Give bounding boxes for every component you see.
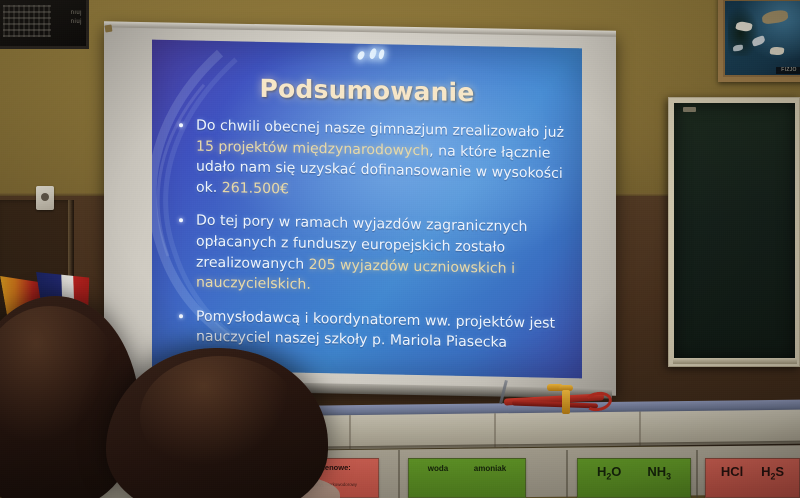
clamp-post bbox=[562, 390, 570, 414]
slide-text-highlight: 261.500€ bbox=[222, 180, 289, 197]
chalkboard-surface bbox=[674, 103, 795, 359]
chemistry-card-names-green: woda amoniak bbox=[408, 458, 526, 498]
bench-panel-seam bbox=[494, 413, 496, 447]
notice-board-text: niujniuj bbox=[71, 9, 82, 27]
fish-icon bbox=[762, 10, 789, 26]
projected-slide: Podsumowanie Do chwili obecnej nasze gim… bbox=[152, 40, 582, 379]
card-word: amoniak bbox=[474, 463, 506, 475]
chalkboard-clip bbox=[683, 107, 696, 112]
poster-credit: FIZJO bbox=[776, 67, 800, 74]
panel-divider bbox=[566, 450, 568, 498]
red-retort-clamp-stand bbox=[496, 386, 614, 414]
slide-light-swoosh-icon bbox=[358, 47, 392, 63]
card-row: H2O NH3 bbox=[584, 463, 684, 486]
chemistry-card-formulas-green: H2O NH3 bbox=[577, 458, 691, 498]
slide-bullet-1: Do chwili obecnej nasze gimnazjum zreali… bbox=[172, 115, 566, 205]
panel-divider bbox=[696, 450, 698, 498]
slide-title: Podsumowanie bbox=[152, 72, 582, 110]
screen-mount-bracket bbox=[105, 25, 113, 33]
slide-text-run: Pomysłodawcą i koordynatorem ww. projekt… bbox=[196, 308, 555, 351]
card-formula-h2s: H2S bbox=[761, 463, 784, 486]
bench-panel-seam bbox=[639, 412, 641, 446]
card-formula-nh3: NH3 bbox=[647, 463, 671, 486]
notice-board-grid bbox=[3, 5, 51, 37]
wall-power-outlet bbox=[36, 186, 54, 210]
panel-divider bbox=[398, 450, 400, 498]
card-word: woda bbox=[428, 463, 448, 475]
chalkboard-chalk-tray bbox=[673, 358, 797, 364]
slide-bullet-list: Do chwili obecnej nasze gimnazjum zreali… bbox=[172, 115, 566, 368]
slide-text-run: Do chwili obecnej nasze gimnazjum zreali… bbox=[196, 118, 564, 141]
classroom-photo-scene: niujniuj FIZJO bbox=[0, 0, 800, 498]
chemistry-card-formulas-red: HCl H2S bbox=[705, 458, 800, 498]
bench-panel-seam bbox=[349, 415, 351, 449]
underwater-reef-poster: FIZJO bbox=[718, 0, 800, 82]
card-formula-h2o: H2O bbox=[597, 463, 621, 486]
card-row: HCl H2S bbox=[712, 463, 793, 486]
dark-notice-board: niujniuj bbox=[0, 0, 89, 49]
slide-bullet-2: Do tej pory w ramach wyjazdów zagraniczn… bbox=[172, 210, 566, 300]
green-chalkboard bbox=[668, 97, 800, 367]
poster-sea-background bbox=[725, 1, 800, 75]
card-formula-hcl: HCl bbox=[721, 463, 743, 486]
card-row: woda amoniak bbox=[415, 463, 519, 475]
slide-text-highlight: 15 projektów międzynarodowych bbox=[196, 138, 429, 159]
fish-icon bbox=[770, 46, 785, 55]
slide-bullet-3: Pomysłodawcą i koordynatorem ww. projekt… bbox=[172, 306, 566, 355]
